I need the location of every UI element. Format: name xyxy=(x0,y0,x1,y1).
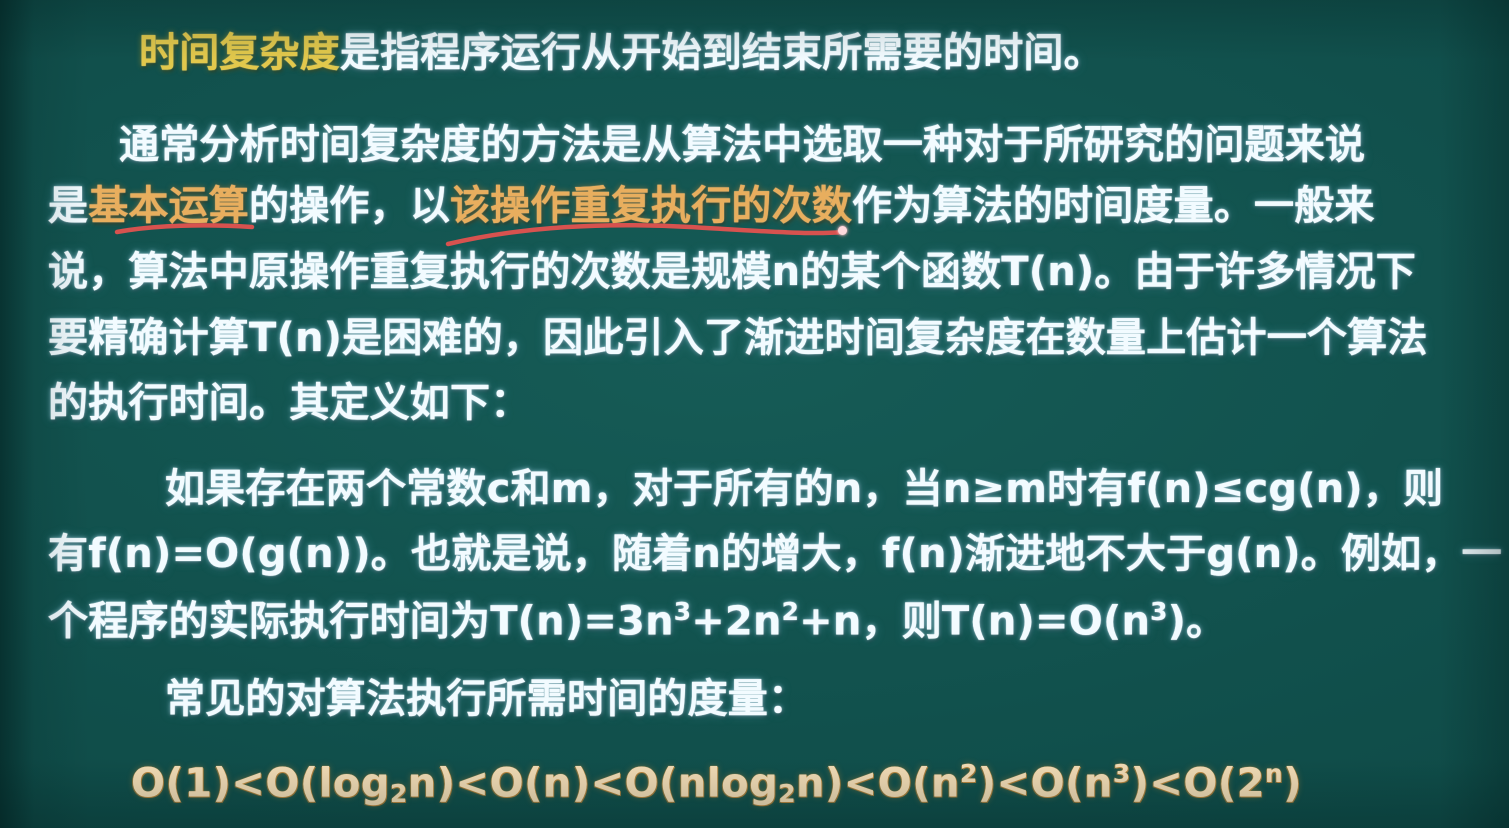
paragraph-3-line-3: 个程序的实际执行时间为T(n)=3n3+2n2+n，则T(n)=O(n3)。 xyxy=(48,600,1226,641)
p3-l3-mid-1: +2n xyxy=(691,598,781,644)
formula-sub-2b: 2 xyxy=(778,779,796,808)
paragraph-2-line-1: 通常分析时间复杂度的方法是从算法中选取一种对于所研究的问题来说 xyxy=(119,125,1365,165)
p3-l3-post: )。 xyxy=(1168,598,1227,644)
p3-l3-pre: 个程序的实际执行时间为T(n)=3n xyxy=(48,598,674,644)
p3-l3-exponent-3a: 3 xyxy=(674,597,691,626)
pointer-dot-icon xyxy=(838,226,847,235)
term-basic-operation: 基本运算 xyxy=(88,183,249,229)
formula-sup-n: n xyxy=(1265,759,1283,788)
p3-l3-exponent-3b: 3 xyxy=(1150,597,1167,626)
formula-sub-2a: 2 xyxy=(390,779,408,808)
formula-seg-6: ) xyxy=(1283,760,1302,806)
paragraph-2-line-2: 是基本运算的操作，以该操作重复执行的次数作为算法的时间度量。一般来 xyxy=(48,186,1375,226)
paragraph-2-line-5: 的执行时间。其定义如下： xyxy=(48,383,530,423)
paragraph-3-line-1: 如果存在两个常数c和m，对于所有的n，当n≥m时有f(n)≤cg(n)，则 xyxy=(165,469,1443,509)
paragraph-2-line-3: 说，算法中原操作重复执行的次数是规模n的某个函数T(n)。由于许多情况下 xyxy=(48,252,1416,292)
term-repeat-count: 该操作重复执行的次数 xyxy=(450,183,852,229)
paragraph-2-line-4: 要精确计算T(n)是困难的，因此引入了渐进时间复杂度在数量上估计一个算法 xyxy=(48,318,1428,358)
formula-seg-1: O(1)<O(log xyxy=(131,760,390,806)
paragraph-3-line-2: 有f(n)=O(g(n))。也就是说，随着n的增大，f(n)渐进地不大于g(n)… xyxy=(48,534,1502,574)
formula-sup-2: 2 xyxy=(960,759,978,788)
paragraph-1-rest: 是指程序运行从开始到结束所需要的时间。 xyxy=(340,30,1104,76)
p3-l3-mid-2: +n，则T(n)=O(n xyxy=(799,598,1150,644)
formula-seg-2: n)<O(n)<O(nlog xyxy=(408,760,778,806)
formula-seg-3: n)<O(n xyxy=(796,760,960,806)
complexity-order-formula: O(1)<O(log2n)<O(n)<O(nlog2n)<O(n2)<O(n3)… xyxy=(131,759,1302,808)
p3-l3-exponent-2: 2 xyxy=(782,597,799,626)
paragraph-1-line-1: 时间复杂度是指程序运行从开始到结束所需要的时间。 xyxy=(139,33,1104,73)
formula-sup-3: 3 xyxy=(1113,759,1131,788)
p2-l2-seg-a: 是 xyxy=(48,183,88,229)
formula-seg-5: )<O(2 xyxy=(1131,760,1265,806)
p2-l2-seg-c: 作为算法的时间度量。一般来 xyxy=(852,183,1375,229)
p2-l2-seg-b: 的操作，以 xyxy=(249,183,450,229)
paragraph-4-line-1: 常见的对算法执行所需时间的度量： xyxy=(165,679,808,719)
formula-seg-4: )<O(n xyxy=(978,760,1113,806)
slide-canvas: 时间复杂度是指程序运行从开始到结束所需要的时间。 通常分析时间复杂度的方法是从算… xyxy=(0,0,1509,828)
slide-content: 时间复杂度是指程序运行从开始到结束所需要的时间。 通常分析时间复杂度的方法是从算… xyxy=(0,0,1509,828)
term-time-complexity: 时间复杂度 xyxy=(139,30,340,76)
